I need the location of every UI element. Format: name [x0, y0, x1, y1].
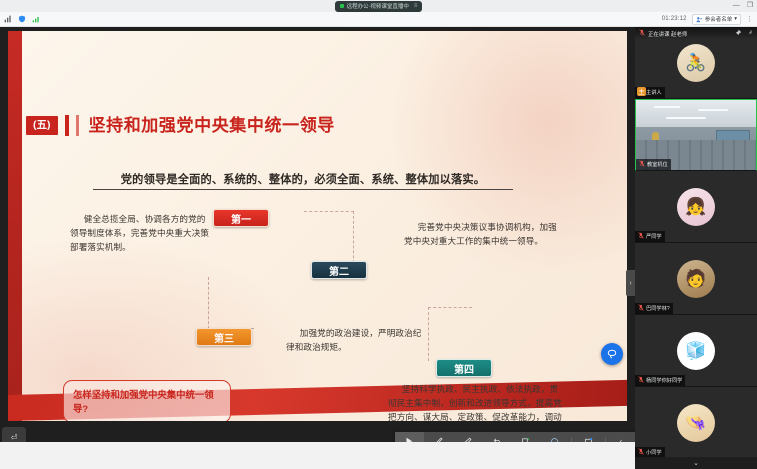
- point-chip-1: 第一: [213, 209, 269, 227]
- participants-label: 参会者名单: [705, 15, 733, 23]
- tile-name-tag: 杨同学你好同学: [635, 375, 685, 386]
- point-chip-3: 第三: [196, 328, 252, 346]
- point-text-1: 健全总揽全局、协调各方的党的领导制度体系，完善党中央重大决策部署落实机制。: [70, 213, 210, 255]
- section-number: (五): [26, 116, 58, 135]
- participant-tile[interactable]: 正在讲课 赵老师 🚴 主 主讲人: [635, 27, 757, 99]
- point-text-3: 加强党的政治建设，严明政治纪律和政治规矩。: [286, 327, 426, 355]
- participant-tile[interactable]: 🧑 巴同学林?: [635, 243, 757, 315]
- rail-scroll-down-button[interactable]: ⌄: [635, 457, 757, 469]
- participant-name: 小同学: [646, 449, 662, 456]
- ceiling-light-icon: [698, 109, 728, 111]
- page-indicator[interactable]: 25/44 页码: [634, 438, 635, 442]
- tile-name-tag: 巴同学林?: [635, 303, 673, 314]
- host-badge: 主: [637, 87, 646, 96]
- participant-rail[interactable]: 正在讲课 赵老师 🚴 主 主讲人: [635, 27, 757, 469]
- slide-left-ribbon: [8, 31, 22, 421]
- network-icon[interactable]: [31, 15, 40, 24]
- avatar: 👧: [677, 188, 715, 226]
- more-icon[interactable]: [745, 29, 753, 39]
- classroom-ceiling: [636, 100, 757, 127]
- lasso-icon: [606, 348, 618, 360]
- heading-bar-secondary: [76, 115, 79, 136]
- tool-undo-icon[interactable]: 撤销: [482, 432, 511, 442]
- ceiling-light-icon: [666, 117, 706, 119]
- recording-indicator-icon: [340, 4, 344, 8]
- participant-tile[interactable]: 👧 严同学: [635, 171, 757, 243]
- participant-name: 杨同学你好同学: [646, 377, 682, 384]
- tile-header: 正在讲课 赵老师: [635, 27, 757, 40]
- floating-action-button[interactable]: [601, 343, 623, 365]
- restore-button[interactable]: ❐: [747, 1, 753, 9]
- avatar: 🧑: [677, 260, 715, 298]
- more-options-icon[interactable]: ⋮: [746, 16, 753, 23]
- annotation-toolbar: 选择 笔 橡皮 撤销: [395, 432, 635, 442]
- tool-move-page-icon[interactable]: 移动页面: [511, 432, 540, 442]
- top-toolbar-left-icons: [0, 15, 40, 24]
- slide-subtitle: 党的领导是全面的、系统的、整体的，必须全面、系统、整体加以落实。: [93, 171, 513, 190]
- recording-title-pill: 远程办公·视频课堂直播中 ≡: [335, 1, 423, 12]
- mic-muted-icon: [639, 29, 645, 38]
- mic-muted-icon: [638, 232, 644, 241]
- toolbar-divider: [571, 437, 572, 442]
- presentation-slide[interactable]: (五) 坚持和加强党中央集中统一领导 党的领导是全面的、系统的、整体的，必须全面…: [8, 31, 627, 421]
- participant-name: 教室机位: [647, 161, 668, 168]
- participant-name: 主讲人: [646, 89, 662, 96]
- exit-share-button[interactable]: ⏎ 返回: [2, 427, 26, 442]
- slide-navigation: ‹ 上一页 25/44 页码 › 下一页: [608, 432, 635, 442]
- tool-eraser-icon[interactable]: 橡皮: [453, 432, 482, 442]
- chevron-left-icon: ‹: [620, 437, 623, 443]
- tile-header-actions: [734, 29, 753, 39]
- title-menu-icon[interactable]: ≡: [414, 3, 418, 9]
- window-title-bar: 远程办公·视频课堂直播中 ≡ — ❐: [0, 0, 757, 12]
- participants-button[interactable]: 参会者名单 ▾: [692, 14, 741, 25]
- annotation-tool-group: 选择 笔 橡皮 撤销: [395, 432, 603, 442]
- pin-icon[interactable]: [734, 29, 742, 39]
- connector-line-3: [428, 307, 472, 361]
- tool-pen-icon[interactable]: 笔: [424, 432, 453, 442]
- mic-muted-icon: [638, 448, 644, 457]
- toolbar-divider-2: [605, 437, 606, 442]
- heading-bar-primary: [65, 115, 69, 136]
- tool-end-share-icon[interactable]: 结束演示: [574, 432, 603, 442]
- mic-muted-icon: [639, 160, 645, 169]
- top-toolbar: 01:23:12 参会者名单 ▾ ⋮: [0, 12, 757, 27]
- people-icon: [696, 16, 703, 23]
- signal-icon[interactable]: [3, 15, 12, 24]
- avatar: 🧊: [677, 332, 715, 370]
- participant-name: 严同学: [646, 233, 662, 240]
- slide-heading-row: (五) 坚持和加强党中央集中统一领导: [26, 115, 335, 136]
- rail-collapse-handle[interactable]: ›: [626, 270, 635, 296]
- ceiling-light-icon: [654, 106, 680, 108]
- tile-name-tag: 教室机位: [636, 159, 671, 170]
- participant-tile[interactable]: 👒 小同学: [635, 387, 757, 459]
- window-controls: — ❐: [733, 1, 753, 9]
- point-text-2: 完善党中央决策议事协调机构，加强党中央对重大工作的集中统一领导。: [404, 221, 559, 249]
- exit-share-icon: ⏎: [11, 434, 18, 442]
- avatar: 👒: [677, 404, 715, 442]
- mic-muted-icon: [638, 376, 644, 385]
- window-title: 远程办公·视频课堂直播中: [347, 2, 409, 10]
- tile-name-tag: 严同学: [635, 231, 665, 242]
- point-chip-4: 第四: [436, 359, 492, 377]
- tool-shape-icon[interactable]: 图形: [540, 432, 569, 442]
- meeting-timer: 01:23:12: [662, 16, 687, 22]
- connector-line-2: [208, 277, 254, 329]
- point-text-4: 坚持科学执政、民主执政、依法执政，贯彻民主集中制，创新和改进领导方式，提高党把方…: [388, 383, 566, 421]
- prev-page-button[interactable]: ‹ 上一页: [608, 437, 634, 443]
- slide-title: 坚持和加强党中央集中统一领导: [89, 117, 335, 134]
- top-toolbar-right: 01:23:12 参会者名单 ▾ ⋮: [662, 14, 757, 25]
- avatar: 🚴: [677, 44, 715, 82]
- meeting-app-window: 远程办公·视频课堂直播中 ≡ — ❐ 01:23:12 参会者名单 ▾: [0, 0, 757, 469]
- point-chip-2: 第二: [311, 261, 367, 279]
- chevron-down-icon: ▾: [734, 16, 737, 22]
- tile-speaker-name: 正在讲课 赵老师: [648, 30, 687, 38]
- participant-name: 巴同学林?: [646, 305, 670, 312]
- tool-cursor-icon[interactable]: 选择: [395, 432, 424, 442]
- shared-screen-stage: (五) 坚持和加强党中央集中统一领导 党的领导是全面的、系统的、整体的，必须全面…: [0, 27, 635, 442]
- question-callout: 怎样坚持和加强党中央集中统一领导?: [63, 380, 231, 421]
- minimize-button[interactable]: —: [733, 2, 740, 9]
- participant-tile[interactable]: 🧊 杨同学你好同学: [635, 315, 757, 387]
- mic-muted-icon: [638, 304, 644, 313]
- shield-icon[interactable]: [17, 15, 26, 24]
- participant-tile[interactable]: 教室机位: [635, 99, 757, 171]
